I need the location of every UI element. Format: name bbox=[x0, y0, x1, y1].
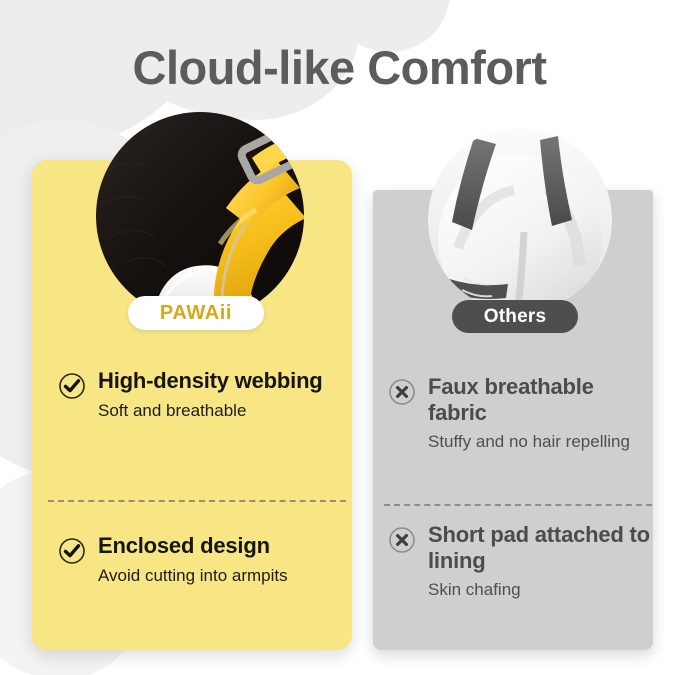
others-product-photo bbox=[428, 128, 612, 312]
feature-subtitle: Stuffy and no hair repelling bbox=[428, 432, 650, 452]
others-badge: Others bbox=[452, 300, 578, 333]
x-circle-icon bbox=[388, 526, 416, 554]
feature-subtitle: Soft and breathable bbox=[98, 401, 323, 421]
others-feature-row: Faux breathable fabric Stuffy and no hai… bbox=[388, 374, 650, 452]
pawaii-badge-label: PAWAii bbox=[160, 302, 232, 325]
feature-title: Faux breathable fabric bbox=[428, 374, 650, 425]
feature-title: Short pad attached to lining bbox=[428, 522, 650, 573]
feature-title: Enclosed design bbox=[98, 533, 288, 559]
check-circle-icon bbox=[58, 537, 86, 565]
pawaii-feature-row: High-density webbing Soft and breathable bbox=[58, 368, 348, 421]
check-circle-icon bbox=[58, 372, 86, 400]
pawaii-feature-divider bbox=[48, 500, 346, 502]
infographic-canvas: Cloud-like Comfort bbox=[0, 0, 679, 675]
x-circle-icon bbox=[388, 378, 416, 406]
page-title: Cloud-like Comfort bbox=[0, 40, 679, 95]
pawaii-feature-row: Enclosed design Avoid cutting into armpi… bbox=[58, 533, 348, 586]
others-feature-row: Short pad attached to lining Skin chafin… bbox=[388, 522, 650, 600]
feature-title: High-density webbing bbox=[98, 368, 323, 394]
pawaii-brand-badge: PAWAii bbox=[128, 296, 264, 330]
others-feature-divider bbox=[384, 504, 652, 506]
others-badge-label: Others bbox=[484, 306, 546, 328]
feature-subtitle: Avoid cutting into armpits bbox=[98, 566, 288, 586]
feature-subtitle: Skin chafing bbox=[428, 580, 650, 600]
pawaii-product-photo bbox=[96, 112, 304, 320]
